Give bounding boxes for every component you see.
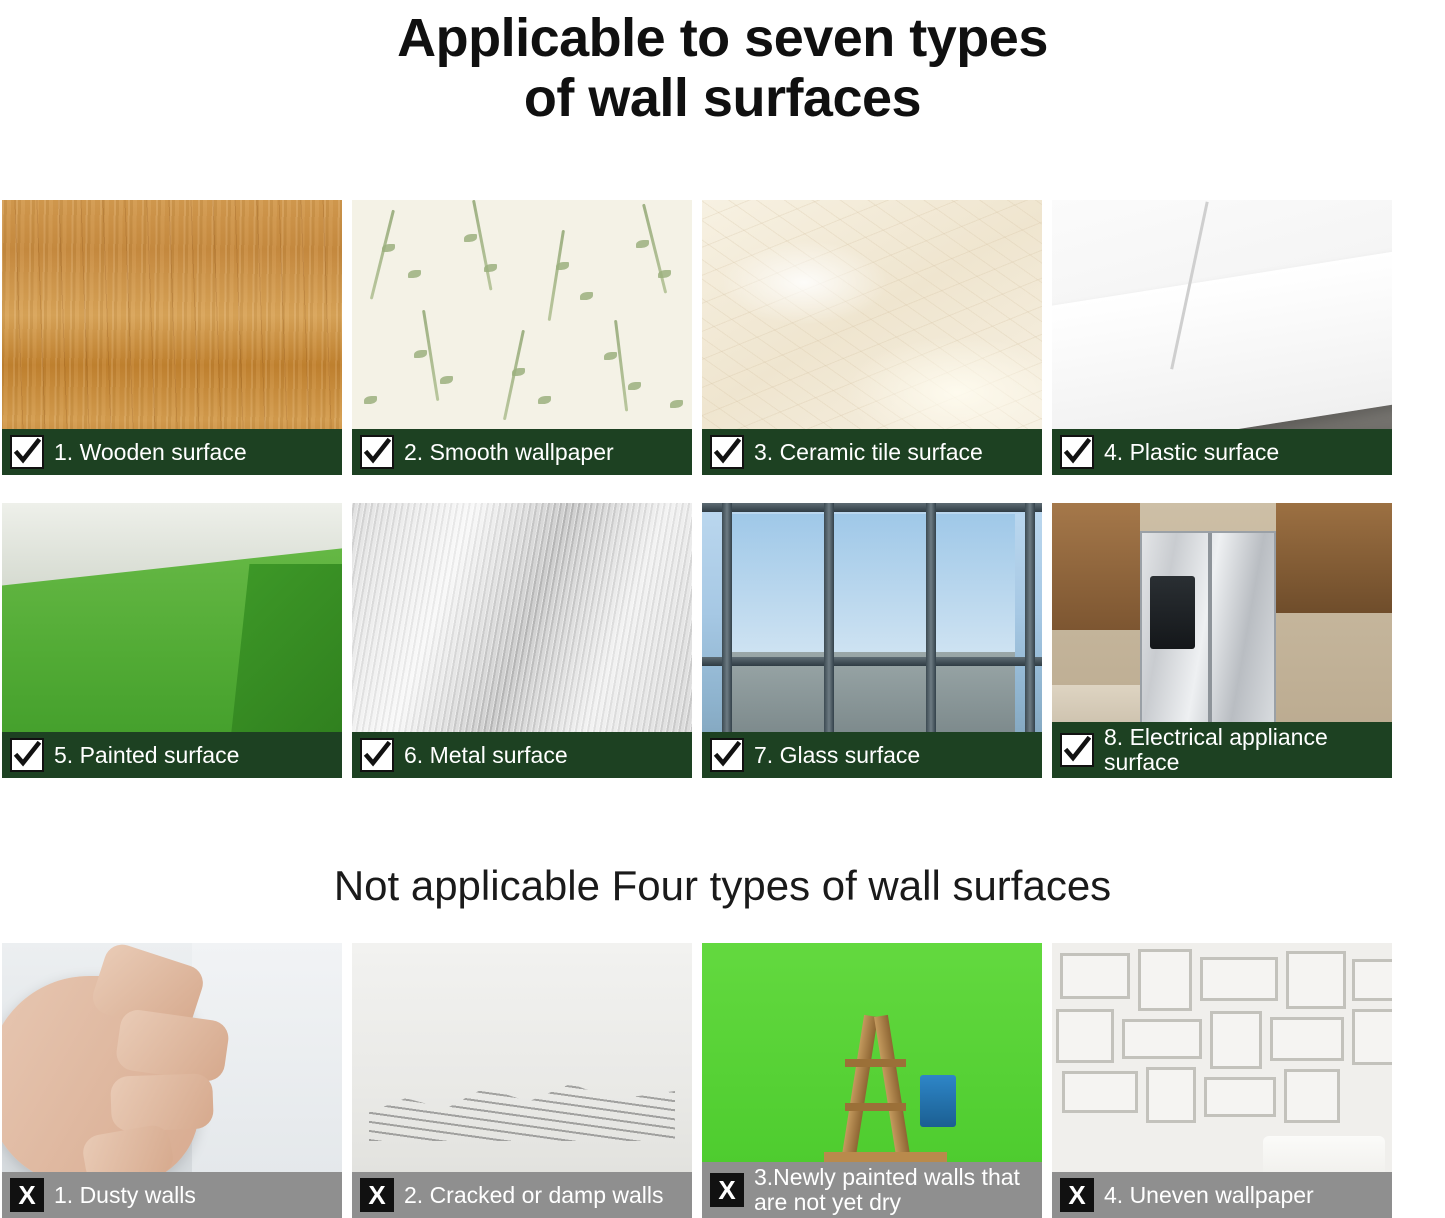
x-mark-icon: X <box>710 1173 744 1207</box>
checkmark-icon <box>1060 733 1094 767</box>
surface-card-newly-painted-walls: X 3.Newly painted walls that are not yet… <box>702 943 1042 1218</box>
caption-label: 7. Glass surface <box>754 743 926 768</box>
caption-bar: 5. Painted surface <box>2 732 342 778</box>
caption-label: 3.Newly painted walls that are not yet d… <box>754 1165 1042 1215</box>
caption-bar: 6. Metal surface <box>352 732 692 778</box>
caption-label: 8. Electrical appliance surface <box>1104 725 1392 775</box>
checkmark-icon <box>1060 435 1094 469</box>
x-mark-label: X <box>12 1180 42 1210</box>
not-applicable-row: X 1. Dusty walls X 2. Cracked or damp wa… <box>0 943 1445 1218</box>
x-mark-label: X <box>1062 1180 1092 1210</box>
caption-label: 6. Metal surface <box>404 743 574 768</box>
caption-bar: 4. Plastic surface <box>1052 429 1392 475</box>
surface-card-metal: 6. Metal surface <box>352 503 692 778</box>
page-title: Applicable to seven types of wall surfac… <box>0 0 1445 129</box>
caption-label: 4. Uneven wallpaper <box>1104 1183 1320 1208</box>
caption-label: 5. Painted surface <box>54 743 245 768</box>
caption-bar: 2. Smooth wallpaper <box>352 429 692 475</box>
caption-label: 2. Cracked or damp walls <box>404 1183 670 1208</box>
checkmark-icon <box>710 435 744 469</box>
caption-label: 2. Smooth wallpaper <box>404 440 620 465</box>
x-mark-label: X <box>362 1180 392 1210</box>
surface-card-cracked-walls: X 2. Cracked or damp walls <box>352 943 692 1218</box>
caption-label: 1. Dusty walls <box>54 1183 202 1208</box>
checkmark-icon <box>10 738 44 772</box>
surface-card-uneven-wallpaper: X 4. Uneven wallpaper <box>1052 943 1392 1218</box>
applicable-row-2: 5. Painted surface 6. Metal surface <box>0 503 1445 778</box>
applicable-row-1: 1. Wooden surface <box>0 200 1445 475</box>
surface-card-wallpaper: 2. Smooth wallpaper <box>352 200 692 475</box>
caption-bar: X 2. Cracked or damp walls <box>352 1172 692 1218</box>
caption-label: 1. Wooden surface <box>54 440 253 465</box>
title-line-2: of wall surfaces <box>0 68 1445 128</box>
surface-card-painted: 5. Painted surface <box>2 503 342 778</box>
caption-label: 4. Plastic surface <box>1104 440 1285 465</box>
surface-card-electrical-appliance: 8. Electrical appliance surface <box>1052 503 1392 778</box>
surface-card-ceramic-tile: 3. Ceramic tile surface <box>702 200 1042 475</box>
caption-bar: 7. Glass surface <box>702 732 1042 778</box>
checkmark-icon <box>10 435 44 469</box>
x-mark-icon: X <box>1060 1178 1094 1212</box>
checkmark-icon <box>360 738 394 772</box>
section-subtitle: Not applicable Four types of wall surfac… <box>0 862 1445 910</box>
caption-bar: 8. Electrical appliance surface <box>1052 722 1392 778</box>
surface-card-plastic: 4. Plastic surface <box>1052 200 1392 475</box>
checkmark-icon <box>710 738 744 772</box>
caption-label: 3. Ceramic tile surface <box>754 440 989 465</box>
title-line-1: Applicable to seven types <box>397 8 1048 68</box>
caption-bar: X 4. Uneven wallpaper <box>1052 1172 1392 1218</box>
caption-bar: X 3.Newly painted walls that are not yet… <box>702 1162 1042 1218</box>
x-mark-icon: X <box>10 1178 44 1212</box>
x-mark-label: X <box>712 1175 742 1205</box>
caption-bar: X 1. Dusty walls <box>2 1172 342 1218</box>
x-mark-icon: X <box>360 1178 394 1212</box>
checkmark-icon <box>360 435 394 469</box>
infographic-page: Applicable to seven types of wall surfac… <box>0 0 1445 1218</box>
surface-card-glass: 7. Glass surface <box>702 503 1042 778</box>
surface-card-dusty-walls: X 1. Dusty walls <box>2 943 342 1218</box>
surface-card-wooden: 1. Wooden surface <box>2 200 342 475</box>
caption-bar: 3. Ceramic tile surface <box>702 429 1042 475</box>
caption-bar: 1. Wooden surface <box>2 429 342 475</box>
